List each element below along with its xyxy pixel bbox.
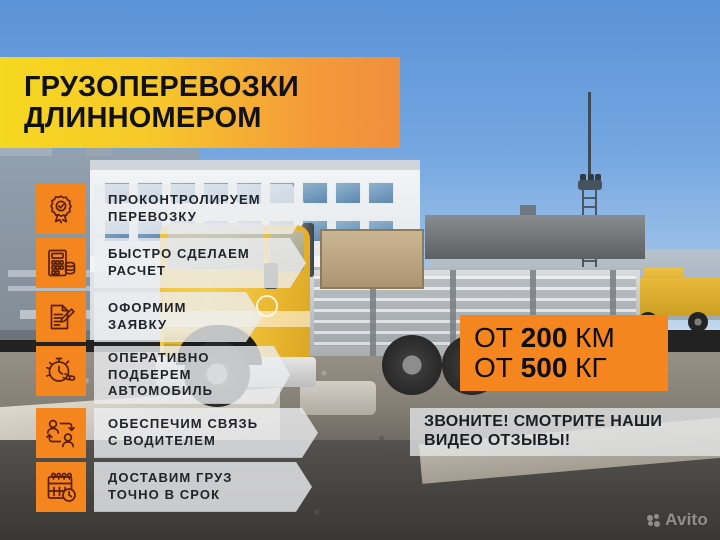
truck-wheel	[382, 335, 442, 395]
title-banner: ГРУЗОПЕРЕВОЗКИ ДЛИННОМЕРОМ	[0, 57, 400, 148]
feature-chip: ОБЕСПЕЧИМ СВЯЗЬ С ВОДИТЕЛЕМ	[94, 408, 318, 458]
feature-item: ОПЕРАТИВНО ПОДБЕРЕМ АВТОМОБИЛЬ	[36, 346, 318, 404]
feature-item: ОБЕСПЕЧИМ СВЯЗЬ С ВОДИТЕЛЕМ	[36, 408, 318, 458]
cargo-load	[425, 215, 645, 259]
minimum-weight: ОТ 500 КГ	[474, 353, 668, 383]
feature-chip: ОПЕРАТИВНО ПОДБЕРЕМ АВТОМОБИЛЬ	[94, 346, 290, 404]
feature-text-line: ОПЕРАТИВНО	[108, 350, 264, 367]
cta-line-1: ЗВОНИТЕ! СМОТРИТЕ НАШИ	[424, 413, 720, 432]
cargo-crate	[320, 229, 424, 289]
avito-watermark-text: Avito	[665, 510, 708, 530]
feature-text-line: ПЕРЕВОЗКУ	[108, 209, 282, 226]
feature-chip: ДОСТАВИМ ГРУЗ ТОЧНО В СРОК	[94, 462, 312, 512]
feature-list: ПРОКОНТРОЛИРУЕМ ПЕРЕВОЗКУ	[36, 184, 318, 516]
feature-text-line: БЫСТРО СДЕЛАЕМ	[108, 246, 280, 263]
feature-chip: ОФОРМИМ ЗАЯВКУ	[94, 292, 262, 342]
feature-text-line: ОФОРМИМ	[108, 300, 236, 317]
feature-item: ДОСТАВИМ ГРУЗ ТОЧНО В СРОК	[36, 462, 318, 512]
title-line-2: ДЛИННОМЕРОМ	[24, 103, 400, 133]
feature-chip: ПРОКОНТРОЛИРУЕМ ПЕРЕВОЗКУ	[94, 184, 308, 234]
feature-chip: БЫСТРО СДЕЛАЕМ РАСЧЕТ	[94, 238, 306, 288]
feature-text-line: АВТОМОБИЛЬ	[108, 383, 264, 400]
feature-text-line: РАСЧЕТ	[108, 263, 280, 280]
award-badge-icon	[36, 184, 86, 234]
feature-text-line: ДОСТАВИМ ГРУЗ	[108, 470, 286, 487]
feature-text-line: ЗАЯВКУ	[108, 317, 236, 334]
feature-text-line: С ВОДИТЕЛЕМ	[108, 433, 292, 450]
avito-watermark: Avito	[647, 510, 708, 530]
feature-text-line: ТОЧНО В СРОК	[108, 487, 286, 504]
feature-item: БЫСТРО СДЕЛАЕМ РАСЧЕТ	[36, 238, 318, 288]
calendar-clock-icon	[36, 462, 86, 512]
weight-value: 500	[521, 352, 568, 383]
feature-text-line: ПРОКОНТРОЛИРУЕМ	[108, 192, 282, 209]
feature-item: ОФОРМИМ ЗАЯВКУ	[36, 292, 318, 342]
title-line-1: ГРУЗОПЕРЕВОЗКИ	[24, 72, 400, 102]
document-pen-icon	[36, 292, 86, 342]
roofline	[90, 160, 420, 170]
distance-prefix: ОТ	[474, 322, 521, 353]
minimum-distance: ОТ 200 КМ	[474, 323, 668, 353]
truck-wheel	[688, 312, 708, 332]
stopwatch-hand-icon	[36, 346, 86, 396]
feature-text-line: ОБЕСПЕЧИМ СВЯЗЬ	[108, 416, 292, 433]
feature-item: ПРОКОНТРОЛИРУЕМ ПЕРЕВОЗКУ	[36, 184, 318, 234]
distance-unit: КМ	[567, 322, 614, 353]
avito-logo-icon	[647, 514, 660, 527]
distance-value: 200	[521, 322, 568, 353]
advertisement-banner: ГРУЗОПЕРЕВОЗКИ ДЛИННОМЕРОМ ПРОКОНТРОЛИРУ…	[0, 0, 720, 540]
feature-text-line: ПОДБЕРЕМ	[108, 367, 264, 384]
calculator-coins-icon	[36, 238, 86, 288]
call-to-action[interactable]: ЗВОНИТЕ! СМОТРИТЕ НАШИ ВИДЕО ОТЗЫВЫ!	[410, 408, 720, 456]
minimum-order-badge: ОТ 200 КМ ОТ 500 КГ	[460, 315, 668, 391]
cta-line-2: ВИДЕО ОТЗЫВЫ!	[424, 432, 720, 451]
weight-prefix: ОТ	[474, 352, 521, 383]
people-exchange-icon	[36, 408, 86, 458]
weight-unit: КГ	[567, 352, 606, 383]
